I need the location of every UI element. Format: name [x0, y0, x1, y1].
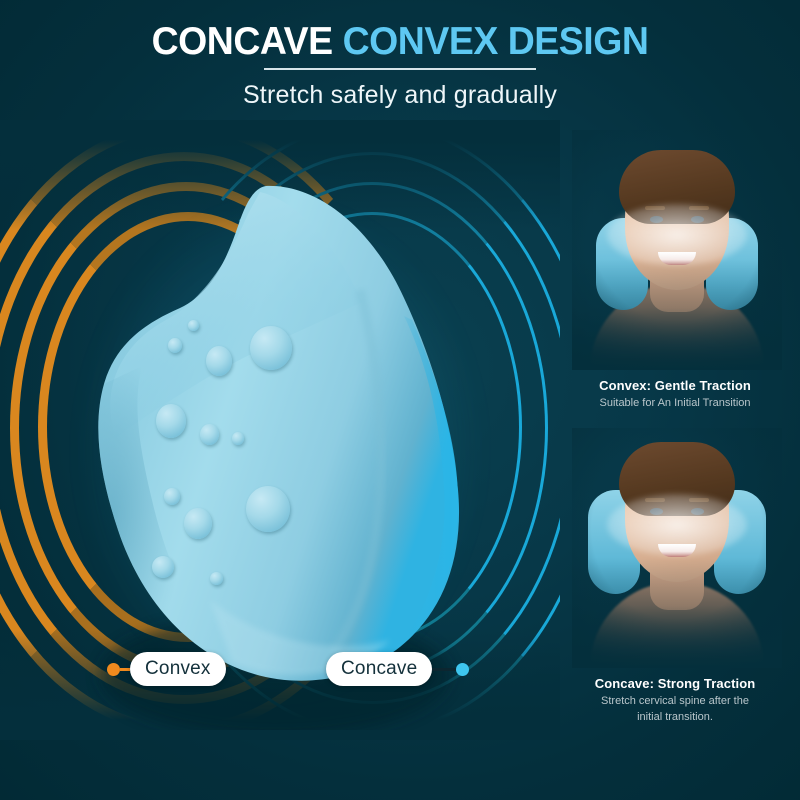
convex-anchor-dot — [107, 663, 120, 676]
concave-anchor-dot — [456, 663, 469, 676]
card-concave[interactable]: Concave: Strong Traction Stretch cervica… — [550, 428, 800, 728]
callout-convex[interactable]: Convex — [107, 652, 226, 686]
product-infographic: CONCAVE CONVEX DESIGN Stretch safely and… — [0, 0, 800, 800]
card-convex[interactable]: Convex: Gentle Traction Suitable for An … — [550, 130, 800, 420]
concave-usage-photo — [572, 428, 782, 668]
concave-leader-line — [432, 668, 456, 671]
convex-leader-line — [120, 668, 130, 671]
pillow-silhouette — [60, 170, 490, 730]
concave-caption-line-2: initial transition. — [550, 710, 800, 726]
title-underline — [264, 68, 536, 70]
convex-caption: Convex: Gentle Traction Suitable for An … — [550, 378, 800, 412]
neck-pillow-product — [60, 170, 490, 730]
page-title: CONCAVE CONVEX DESIGN — [16, 22, 784, 63]
convex-label[interactable]: Convex — [130, 652, 226, 686]
page-subtitle: Stretch safely and gradually — [0, 81, 800, 110]
convex-usage-photo — [572, 130, 782, 370]
title-white-part: CONCAVE — [152, 20, 333, 63]
concave-caption: Concave: Strong Traction Stretch cervica… — [550, 676, 800, 726]
header: CONCAVE CONVEX DESIGN Stretch safely and… — [0, 0, 800, 110]
hero-illustration: Convex Concave — [0, 120, 560, 740]
convex-caption-line-1: Suitable for An Initial Transition — [550, 396, 800, 412]
title-accent-part: CONVEX DESIGN — [343, 20, 649, 63]
usage-cards: Convex: Gentle Traction Suitable for An … — [550, 130, 800, 730]
concave-caption-line-1: Stretch cervical spine after the — [550, 694, 800, 710]
convex-caption-title: Convex: Gentle Traction — [550, 378, 800, 393]
photo-soft-haze — [607, 204, 747, 266]
photo-soft-haze — [607, 494, 747, 556]
concave-label[interactable]: Concave — [326, 652, 432, 686]
callout-concave[interactable]: Concave — [326, 652, 469, 686]
concave-caption-title: Concave: Strong Traction — [550, 676, 800, 691]
